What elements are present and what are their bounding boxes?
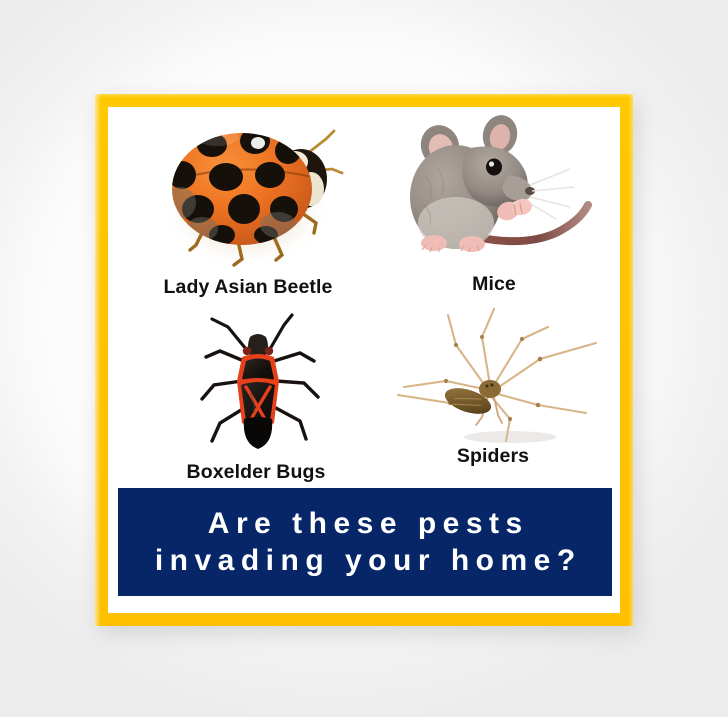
pest-card-lady-asian-beetle: Lady Asian Beetle bbox=[114, 111, 382, 321]
boxelder-bug-icon bbox=[184, 307, 334, 459]
pest-card-mice: Mice bbox=[380, 107, 620, 317]
pest-label-lady-asian-beetle: Lady Asian Beetle bbox=[114, 278, 382, 298]
cellar-spider-icon bbox=[390, 301, 602, 451]
pest-label-boxelder-bugs: Boxelder Bugs bbox=[136, 463, 376, 483]
pest-label-spiders: Spiders bbox=[370, 447, 616, 467]
poster-white-canvas: Lady Asian Beetle bbox=[108, 107, 620, 613]
pest-card-spiders: Spiders bbox=[374, 297, 620, 493]
poster-page: Lady Asian Beetle bbox=[0, 0, 728, 717]
cta-line-1: Are these pests bbox=[201, 505, 528, 542]
pest-image-grid: Lady Asian Beetle bbox=[108, 107, 620, 499]
cta-banner: Are these pests invading your home? bbox=[118, 488, 612, 596]
pest-card-boxelder-bugs: Boxelder Bugs bbox=[136, 303, 376, 499]
ladybug-beetle-icon bbox=[162, 117, 352, 279]
pest-label-mice: Mice bbox=[374, 275, 614, 295]
cta-line-2: invading your home? bbox=[148, 542, 581, 579]
mouse-icon bbox=[404, 111, 594, 271]
poster-yellow-frame: Lady Asian Beetle bbox=[95, 94, 633, 626]
